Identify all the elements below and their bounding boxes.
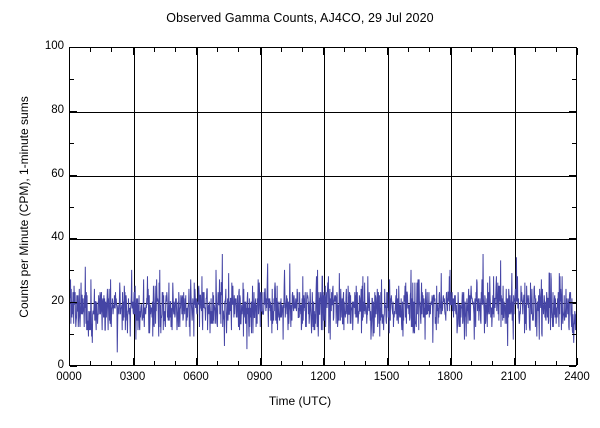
y-tick-major [70,302,77,303]
chart-figure: Observed Gamma Counts, AJ4CO, 29 Jul 202… [0,0,600,428]
y-tick-major [70,238,77,239]
x-tick-label: 1500 [357,371,417,383]
x-tick-label: 0600 [166,371,226,383]
y-tick-minor [70,79,74,80]
gamma-counts-trace [70,48,576,365]
x-tick-minor [492,361,493,365]
y-tick-major [569,47,576,48]
x-tick-minor [154,361,155,365]
x-tick-minor [175,361,176,365]
x-tick-label: 0000 [39,371,99,383]
plot-area [69,47,577,366]
x-tick-label: 2100 [484,371,544,383]
x-tick-minor [217,361,218,365]
x-tick-minor [217,48,218,52]
x-tick-major [450,48,451,55]
x-tick-minor [365,48,366,52]
x-tick-major [450,358,451,365]
y-tick-minor [70,270,74,271]
y-tick-major [569,238,576,239]
x-tick-major [260,48,261,55]
x-tick-minor [302,48,303,52]
x-tick-minor [154,48,155,52]
y-tick-minor [70,334,74,335]
y-tick-major [70,366,77,367]
x-tick-label: 2400 [547,371,600,383]
x-tick-minor [471,361,472,365]
y-tick-major [70,111,77,112]
x-axis-title: Time (UTC) [0,394,600,408]
y-tick-major [70,175,77,176]
x-tick-label: 1200 [293,371,353,383]
x-tick-major [323,48,324,55]
x-tick-major [196,48,197,55]
x-tick-minor [175,48,176,52]
chart-title: Observed Gamma Counts, AJ4CO, 29 Jul 202… [0,11,600,25]
x-tick-minor [90,48,91,52]
x-tick-major [514,358,515,365]
x-tick-minor [365,361,366,365]
x-tick-label: 0300 [103,371,163,383]
x-tick-major [577,358,578,365]
y-tick-minor [572,270,576,271]
x-tick-major [387,358,388,365]
x-tick-major [69,358,70,365]
x-tick-minor [344,48,345,52]
x-tick-minor [535,48,536,52]
y-tick-major [569,111,576,112]
x-tick-minor [90,361,91,365]
x-tick-minor [408,48,409,52]
y-tick-major [569,366,576,367]
y-tick-major [569,175,576,176]
x-tick-minor [238,361,239,365]
x-tick-major [260,358,261,365]
x-tick-major [196,358,197,365]
x-tick-label: 0900 [230,371,290,383]
x-tick-minor [111,361,112,365]
x-tick-major [133,358,134,365]
x-tick-minor [556,361,557,365]
y-axis-title: Counts per Minute (CPM), 1-minute sums [17,47,31,367]
x-tick-minor [535,361,536,365]
x-axis-tick-labels: 000003000600090012001500180021002400 [0,371,600,389]
x-tick-major [387,48,388,55]
x-tick-major [577,48,578,55]
x-tick-major [69,48,70,55]
x-tick-minor [111,48,112,52]
x-tick-minor [238,48,239,52]
x-tick-minor [281,361,282,365]
y-tick-minor [70,143,74,144]
x-tick-minor [556,48,557,52]
y-tick-major [569,302,576,303]
x-tick-minor [344,361,345,365]
y-tick-minor [572,334,576,335]
x-tick-minor [492,48,493,52]
y-tick-minor [572,143,576,144]
y-tick-minor [572,207,576,208]
x-tick-major [514,48,515,55]
x-tick-minor [408,361,409,365]
x-tick-minor [281,48,282,52]
x-tick-minor [302,361,303,365]
x-tick-major [323,358,324,365]
x-tick-minor [429,48,430,52]
gamma-counts-polyline [70,254,576,352]
y-tick-minor [572,79,576,80]
x-tick-minor [471,48,472,52]
x-tick-major [133,48,134,55]
y-tick-minor [70,207,74,208]
x-tick-label: 1800 [420,371,480,383]
x-tick-minor [429,361,430,365]
y-tick-major [70,47,77,48]
